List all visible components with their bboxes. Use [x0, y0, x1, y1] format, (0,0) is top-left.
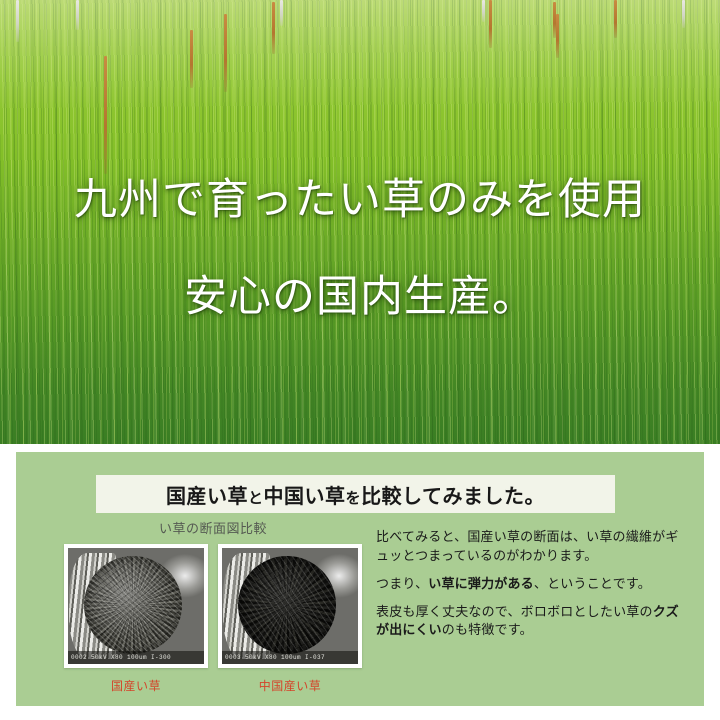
figure-frame: 0003 50kV X80 100um I-037: [218, 544, 362, 668]
figure-chinese: 0003 50kV X80 100um I-037 中国産い草: [218, 544, 362, 694]
micrograph-scale-text: 0002 50kV X80 100um I-300: [68, 651, 204, 664]
horizon-haze: [0, 0, 720, 110]
heading-particle-2: を: [346, 490, 362, 507]
field-stake: [272, 2, 275, 54]
grass-field-photo: [0, 0, 720, 444]
field-stake: [280, 0, 283, 26]
field-stake: [556, 14, 559, 58]
figure-group: い草の断面図比較 0002 50kV X80 100um I-300 国産い草: [58, 518, 368, 694]
body-paragraph: 比べてみると、国産い草の断面は、い草の繊維がギュッとつまっているのがわかります。: [376, 528, 688, 566]
field-stake: [224, 14, 227, 92]
heading-part-2: 中国い草: [264, 486, 346, 508]
micrograph-domestic-igusa: 0002 50kV X80 100um I-300: [68, 548, 204, 664]
hero-section: 九州で育ったい草のみを使用 安心の国内生産。: [0, 0, 720, 444]
grass-texture-layer-1: [0, 0, 720, 444]
micrograph-grain: [238, 556, 336, 653]
micrograph-chinese-igusa: 0003 50kV X80 100um I-037: [222, 548, 358, 664]
field-stake: [16, 0, 19, 42]
comparison-panel: 国産い草と中国い草を比較してみました。 い草の断面図比較 0002 50kV X…: [16, 452, 704, 706]
field-stake: [614, 0, 617, 38]
heading-part-3: 比較してみました。: [361, 486, 545, 508]
field-stake: [482, 0, 485, 22]
comparison-body-copy: 比べてみると、国産い草の断面は、い草の繊維がギュッとつまっているのがわかります。…: [376, 528, 688, 640]
heading-part-1: 国産い草: [166, 486, 248, 508]
figure-group-label: い草の断面図比較: [58, 518, 368, 537]
field-stake: [190, 30, 193, 88]
micrograph-grain: [84, 556, 182, 653]
figure-row: 0002 50kV X80 100um I-300 国産い草 0003 50kV: [58, 544, 368, 694]
field-stake: [104, 56, 107, 174]
field-stake: [489, 0, 492, 48]
field-stake: [76, 0, 79, 30]
body-paragraph: つまり、い草に弾力がある、ということです。: [376, 575, 688, 594]
body-text-run: のも特徴です。: [442, 622, 533, 637]
panel-heading-text: 国産い草と中国い草を比較してみました。: [166, 480, 545, 509]
heading-particle-1: と: [248, 490, 264, 507]
grass-texture-layer-2: [0, 0, 720, 444]
body-text-run: 比べてみると、国産い草の断面は、い草の繊維がギュッとつまっているのがわかります。: [376, 529, 679, 563]
body-text-run: 表皮も厚く丈夫なので、ボロボロとしたい草の: [376, 604, 653, 619]
micrograph-scale-text: 0003 50kV X80 100um I-037: [222, 651, 358, 664]
body-text-run: 、ということです。: [534, 576, 651, 591]
figure-frame: 0002 50kV X80 100um I-300: [64, 544, 208, 668]
figure-caption-chinese: 中国産い草: [218, 677, 362, 694]
body-text-emphasis: い草に弾力がある: [428, 576, 534, 591]
figure-caption-domestic: 国産い草: [64, 677, 208, 694]
body-paragraph: 表皮も厚く丈夫なので、ボロボロとしたい草のクズが出にくいのも特徴です。: [376, 603, 688, 641]
product-feature-page: 九州で育ったい草のみを使用 安心の国内生産。 国産い草と中国い草を比較してみまし…: [0, 0, 720, 720]
panel-heading-bar: 国産い草と中国い草を比較してみました。: [96, 475, 615, 513]
body-text-run: つまり、: [376, 576, 428, 591]
field-stake: [682, 0, 685, 28]
grass-texture-layer-3: [0, 0, 720, 444]
figure-domestic: 0002 50kV X80 100um I-300 国産い草: [64, 544, 208, 694]
